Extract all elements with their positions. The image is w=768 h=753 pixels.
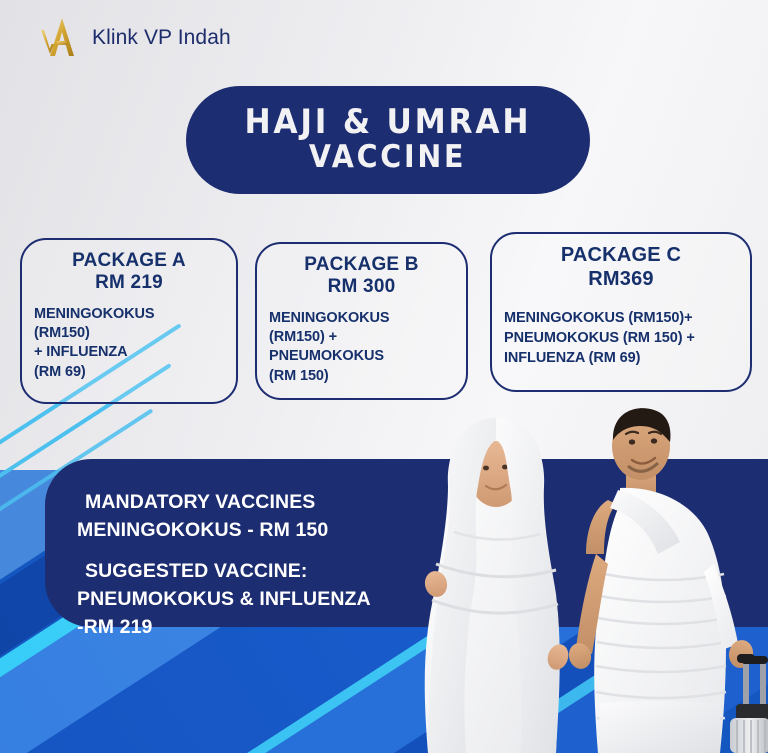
package-b-detail-line: PNEUMOKOKUS [269,347,454,366]
suggested-vaccine-block: SUGGESTED VACCINE: PNEUMOKOKUS & INFLUEN… [77,558,497,641]
package-c-detail-line: INFLUENZA (RM 69) [504,349,738,369]
package-a-detail-line: (RM 69) [34,363,224,382]
mandatory-detail: MENINGOKOKUS - RM 150 [77,517,497,545]
package-b-details: MENINGOKOKUS (RM150) + PNEUMOKOKUS (RM 1… [269,309,454,386]
va-monogram-svg [38,14,78,62]
package-c-price: RM369 [504,268,738,292]
package-b-detail-line: (RM 150) [269,367,454,386]
package-a-heading: PACKAGE A RM 219 [34,250,224,295]
package-a-name: PACKAGE A [34,250,224,272]
brand-name: Klink VP Indah [92,26,231,50]
package-cards: PACKAGE A RM 219 MENINGOKOKUS (RM150) + … [0,232,768,414]
poster-canvas: Klink VP Indah HAJI & UMRAH VACCINE PACK… [0,0,768,753]
suggested-detail: PNEUMOKOKUS & INFLUENZA [77,586,497,614]
package-b-detail-line: (RM150) + [269,328,454,347]
package-b-heading: PACKAGE B RM 300 [269,254,454,299]
suggested-price: -RM 219 [77,614,497,642]
mandatory-vaccines-block: MANDATORY VACCINES MENINGOKOKUS - RM 150 [77,489,497,544]
package-c-details: MENINGOKOKUS (RM150)+ PNEUMOKOKUS (RM 15… [504,309,738,368]
package-c-heading: PACKAGE C RM369 [504,244,738,291]
package-a-price: RM 219 [34,272,224,294]
brand-header: Klink VP Indah [38,14,231,62]
title-banner: HAJI & UMRAH VACCINE [186,86,590,194]
package-card-a[interactable]: PACKAGE A RM 219 MENINGOKOKUS (RM150) + … [20,238,238,404]
title-line-2: VACCINE [309,140,466,176]
package-b-detail-line: MENINGOKOKUS [269,309,454,328]
package-b-price: RM 300 [269,276,454,298]
title-line-1: HAJI & UMRAH [245,105,532,140]
package-card-c[interactable]: PACKAGE C RM369 MENINGOKOKUS (RM150)+ PN… [490,232,752,392]
package-a-details: MENINGOKOKUS (RM150) + INFLUENZA (RM 69) [34,305,224,382]
package-b-name: PACKAGE B [269,254,454,276]
package-a-detail-line: + INFLUENZA [34,343,224,362]
package-c-detail-line: PNEUMOKOKUS (RM 150) + [504,329,738,349]
suggested-title: SUGGESTED VACCINE: [77,558,497,586]
package-card-b[interactable]: PACKAGE B RM 300 MENINGOKOKUS (RM150) + … [255,242,468,400]
package-a-detail-line: (RM150) [34,324,224,343]
package-c-name: PACKAGE C [504,244,738,268]
mandatory-title: MANDATORY VACCINES [77,489,497,517]
package-c-detail-line: MENINGOKOKUS (RM150)+ [504,309,738,329]
info-banner-text: MANDATORY VACCINES MENINGOKOKUS - RM 150… [77,489,497,641]
va-monogram-icon [38,14,78,62]
silver-suitcase [730,654,768,753]
man-in-white-ihram [566,408,755,753]
package-a-detail-line: MENINGOKOKUS [34,305,224,324]
